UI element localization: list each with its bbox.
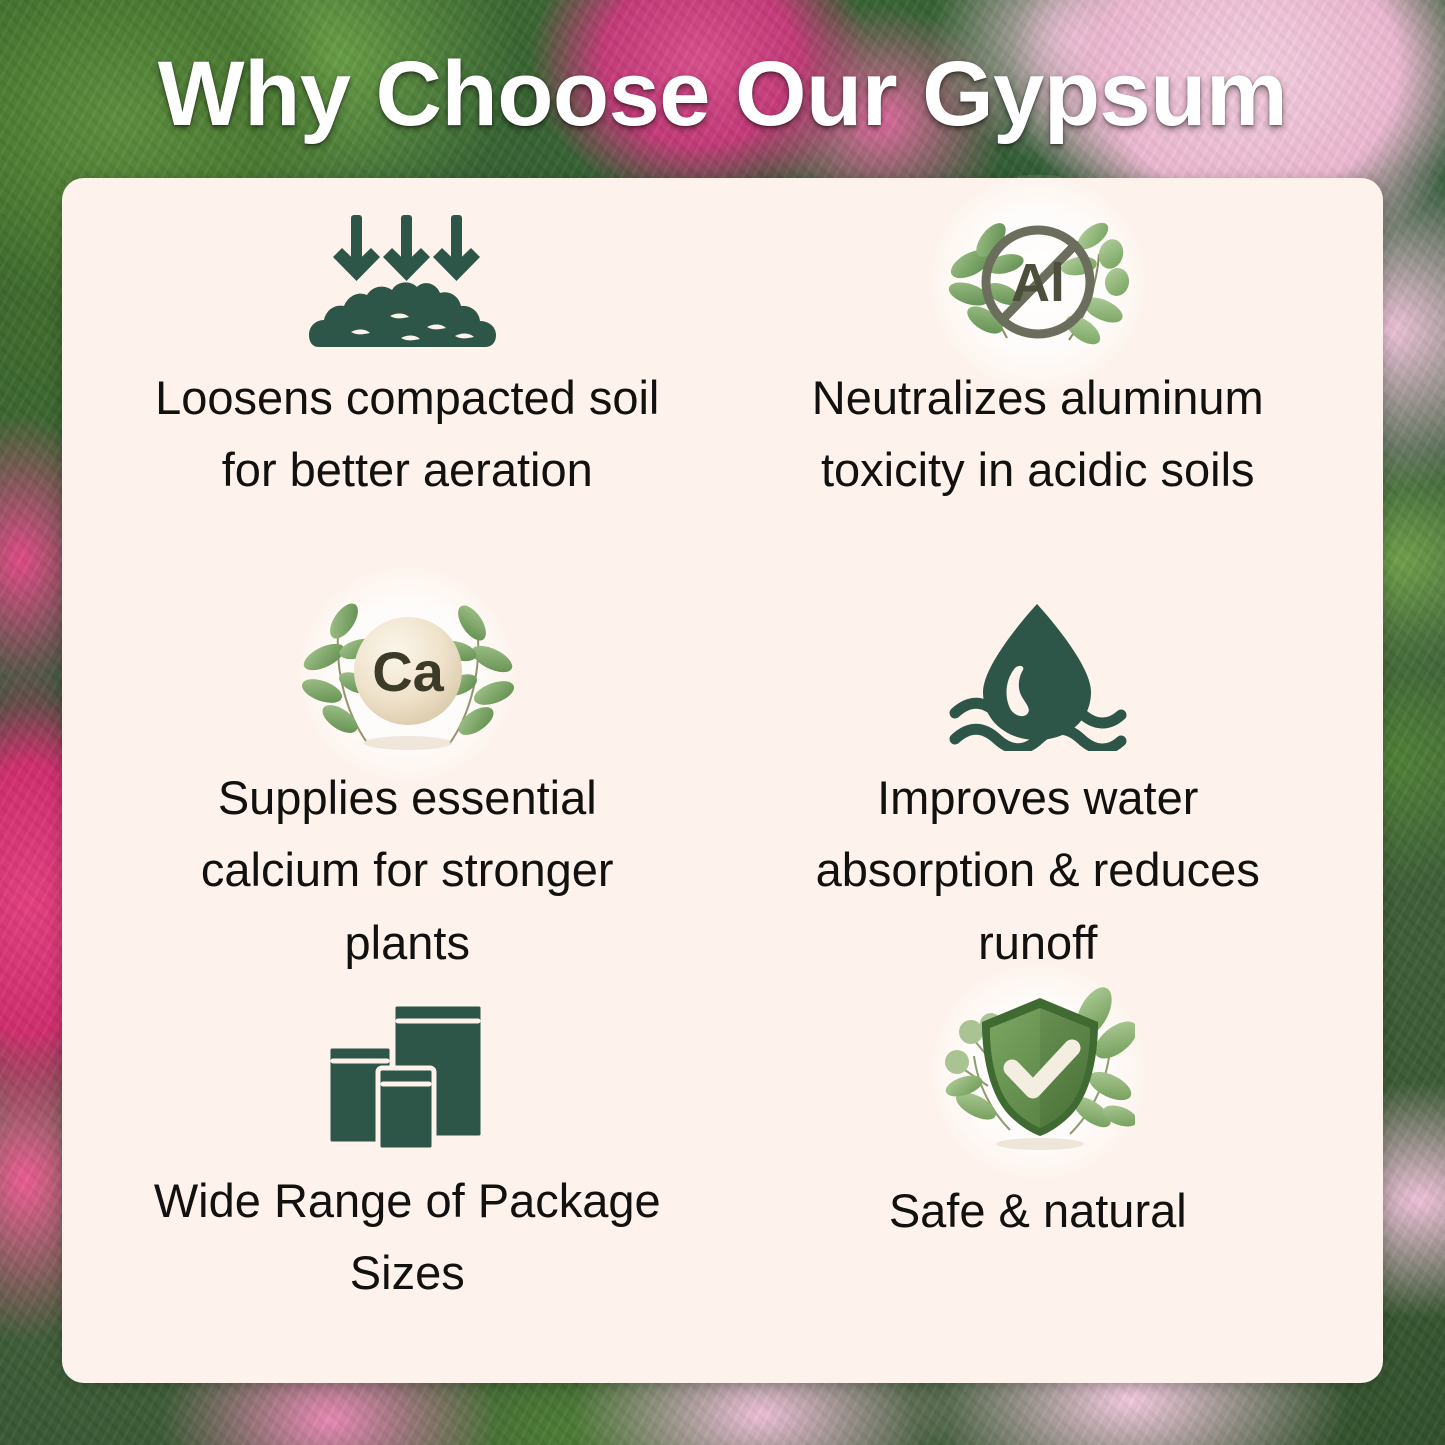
benefits-card: Loosens compacted soil for better aerati… <box>62 178 1383 1383</box>
water-drop-icon <box>945 586 1130 762</box>
package-bags-icon <box>312 979 502 1165</box>
infographic-stage: Why Choose Our Gypsum <box>0 0 1445 1445</box>
feature-item-safe-natural: Safe & natural <box>723 979 1354 1363</box>
feature-item-loosens-soil: Loosens compacted soil for better aerati… <box>92 202 723 586</box>
calcium-symbol-text: Ca <box>372 640 444 703</box>
feature-item-package-sizes: Wide Range of Package Sizes <box>92 979 723 1363</box>
aluminum-symbol-text: Al <box>1011 253 1065 313</box>
soil-arrows-icon <box>307 202 507 362</box>
page-title: Why Choose Our Gypsum <box>0 42 1445 147</box>
feature-label: Supplies essential calcium for stronger … <box>142 762 672 979</box>
feature-label: Wide Range of Package Sizes <box>142 1165 672 1310</box>
feature-item-improves-water: Improves water absorption & reduces runo… <box>723 586 1354 979</box>
feature-item-supplies-calcium: Ca Supplies essential calcium for strong… <box>92 586 723 979</box>
feature-item-neutralizes-aluminum: Al Neutralizes aluminum toxicity in acid… <box>723 202 1354 586</box>
calcium-sphere-icon: Ca <box>300 586 515 762</box>
shield-check-icon <box>940 979 1135 1165</box>
no-aluminum-icon: Al <box>933 202 1143 362</box>
feature-label: Loosens compacted soil for better aerati… <box>142 362 672 507</box>
feature-label: Improves water absorption & reduces runo… <box>773 762 1303 979</box>
